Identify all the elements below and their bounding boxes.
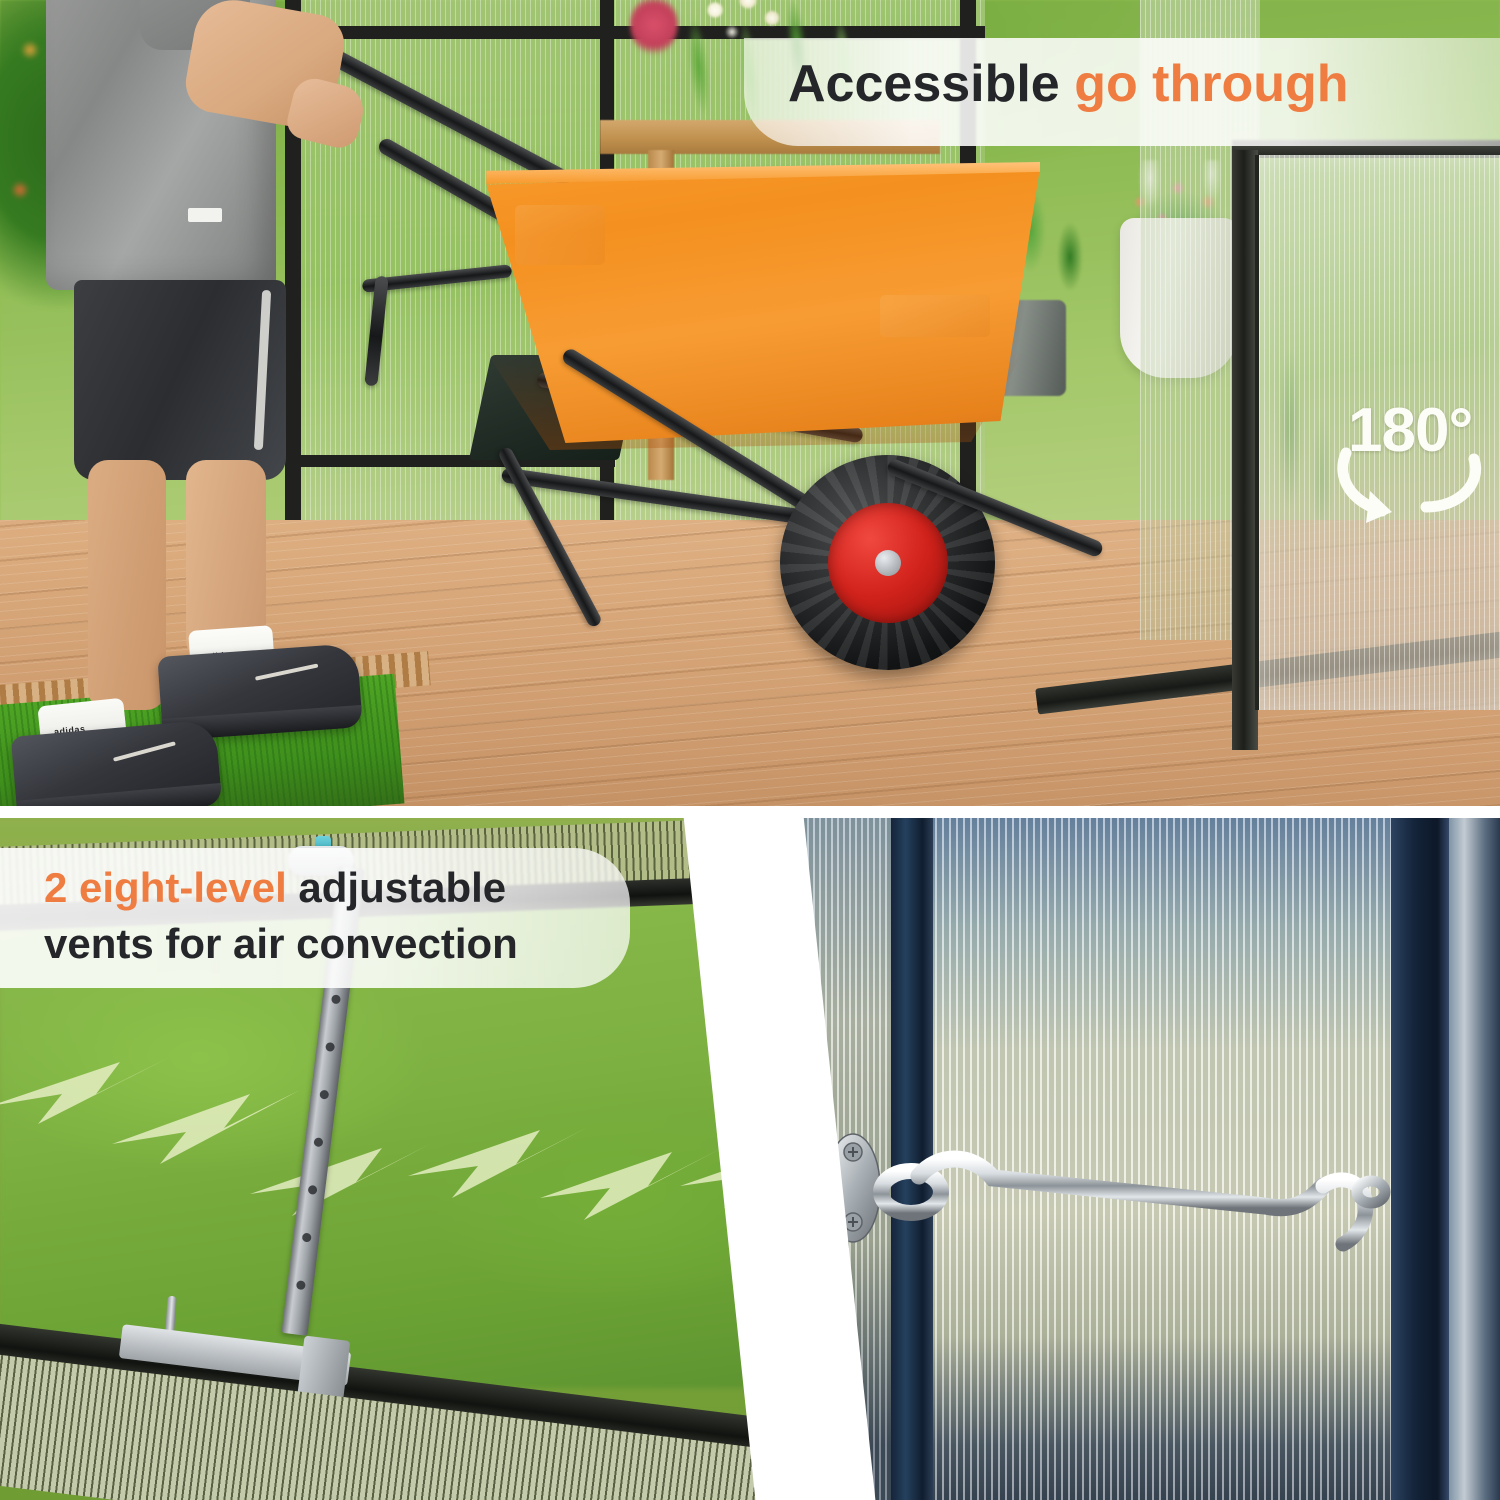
tshirt-label [188,208,222,222]
caption-vents-line2: vents for air convection [44,920,518,968]
sneaker-lace-left [113,741,176,761]
caption-accessible-accent: go through [1074,55,1348,113]
hook-shaft [919,1159,1323,1208]
wheel-axle [875,550,901,576]
orange-wheelbarrow [300,100,1060,720]
infographic-page: HAODEYI fine garden 180° [0,0,1500,1500]
bottom-panel-row: 2 eight-level adjustable vents for air c… [0,818,1500,1500]
tray-emboss-left [515,205,605,265]
airflow-arrows [0,998,795,1298]
vent-arm-hole [319,1090,329,1100]
vent-arm-hole [296,1280,306,1290]
caption-accessible-highlight: Accessible [788,55,1074,113]
caption-adjustable-vents: 2 eight-level adjustable vents for air c… [0,848,630,988]
vent-arm-hole [308,1185,318,1195]
caption-vents-line1: 2 eight-level adjustable [44,864,506,912]
caption-vents-accent: 2 eight-level [44,864,298,911]
vent-arm-hole [302,1233,312,1243]
sneaker-lace-right [255,663,318,680]
panel-accessible-go-through: HAODEYI fine garden 180° [0,0,1500,806]
rotation-badge: 180° [1330,395,1490,535]
tray-emboss-right [880,295,990,337]
dark-shorts [74,280,286,480]
rotate-180-double-arrow-icon [1330,415,1490,535]
panel-adjustable-vents: 2 eight-level adjustable vents for air c… [0,818,795,1500]
hook-receiver-eye [1357,1181,1385,1203]
vent-arm-hole [331,994,341,1004]
vent-arm-hole [313,1137,323,1147]
caption-accessible-text: Accessible go through [788,54,1349,114]
leg-left [88,460,166,710]
caption-vents-rest: adjustable [298,864,506,911]
sneaker-sole-left [16,783,222,806]
person-pushing-wheelbarrow: adidas adidas [0,0,330,806]
vent-arm-hole [325,1042,335,1052]
chrome-cabin-hook-icon [795,1118,1500,1318]
caption-accessible: Accessible go through [744,38,1500,146]
panel-door-hooks: Door hooks keeping the door open [795,818,1500,1500]
